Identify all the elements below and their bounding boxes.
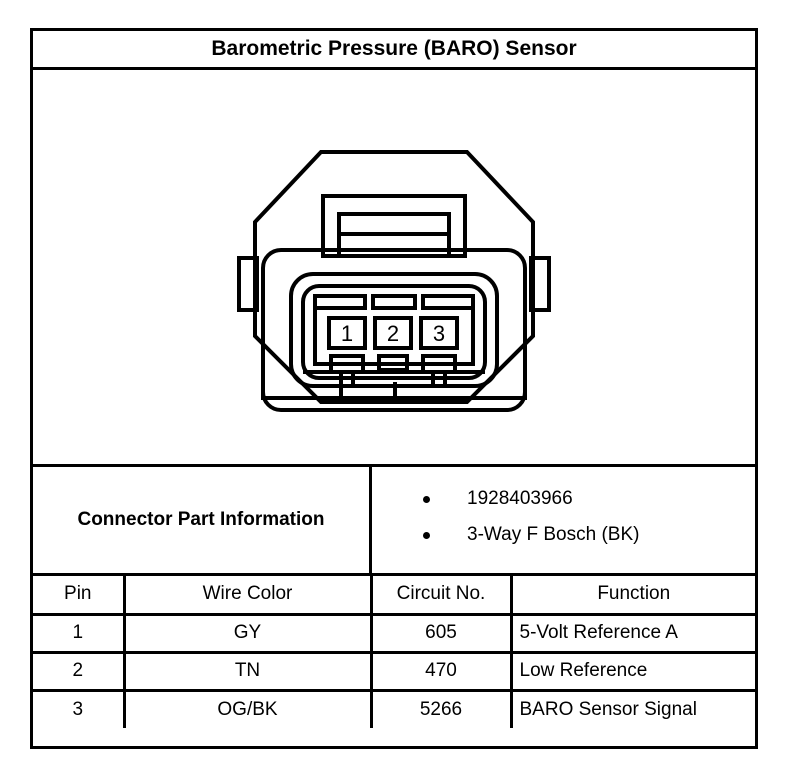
connector-part-information-label-cell: Connector Part Information <box>33 467 372 573</box>
cell-circuit-no: 5266 <box>371 690 511 728</box>
column-header-wire-color: Wire Color <box>124 576 371 614</box>
connector-part-information-list: 1928403966 3-Way F Bosch (BK) <box>375 467 755 573</box>
title-band: Barometric Pressure (BARO) Sensor <box>33 31 755 70</box>
list-item: 3-Way F Bosch (BK) <box>375 517 755 553</box>
part-number-text: 1928403966 <box>467 488 573 510</box>
cell-pin: 2 <box>33 652 124 690</box>
table-row: 1 GY 605 5-Volt Reference A <box>33 614 755 652</box>
guide-bar-3 <box>423 296 473 308</box>
column-header-pin: Pin <box>33 576 124 614</box>
pin-number-3: 3 <box>433 321 445 346</box>
latch-outer <box>323 196 465 256</box>
column-header-circuit-no: Circuit No. <box>371 576 511 614</box>
cell-circuit-no: 470 <box>371 652 511 690</box>
document-frame: Barometric Pressure (BARO) Sensor <box>30 28 758 749</box>
cell-function: 5-Volt Reference A <box>511 614 755 652</box>
cell-pin: 3 <box>33 690 124 728</box>
cell-pin: 1 <box>33 614 124 652</box>
connector-figure-area: 1 2 3 <box>33 70 755 467</box>
list-item: 1928403966 <box>375 481 755 517</box>
pin-assignment-table: Pin Wire Color Circuit No. Function 1 GY… <box>33 576 755 743</box>
part-description-text: 3-Way F Bosch (BK) <box>467 524 639 546</box>
table-row: 2 TN 470 Low Reference <box>33 652 755 690</box>
cell-function: BARO Sensor Signal <box>511 690 755 728</box>
column-header-function: Function <box>511 576 755 614</box>
cell-wire-color: TN <box>124 652 371 690</box>
bullet-icon <box>423 496 430 503</box>
page-title: Barometric Pressure (BARO) Sensor <box>211 37 576 61</box>
guide-bar-2 <box>373 296 415 308</box>
cell-wire-color: GY <box>124 614 371 652</box>
connector-part-information-label: Connector Part Information <box>77 509 324 531</box>
table-header-row: Pin Wire Color Circuit No. Function <box>33 576 755 614</box>
cell-circuit-no: 605 <box>371 614 511 652</box>
pin-number-1: 1 <box>341 321 353 346</box>
bullet-icon <box>423 532 430 539</box>
connector-info-sheet: Barometric Pressure (BARO) Sensor <box>0 0 800 776</box>
connector-diagram: 1 2 3 <box>203 150 585 420</box>
connector-part-information-band: Connector Part Information 1928403966 3-… <box>33 467 755 576</box>
table-row: 3 OG/BK 5266 BARO Sensor Signal <box>33 690 755 728</box>
cell-function: Low Reference <box>511 652 755 690</box>
pin-number-2: 2 <box>387 321 399 346</box>
guide-bar-1 <box>315 296 365 308</box>
cell-wire-color: OG/BK <box>124 690 371 728</box>
